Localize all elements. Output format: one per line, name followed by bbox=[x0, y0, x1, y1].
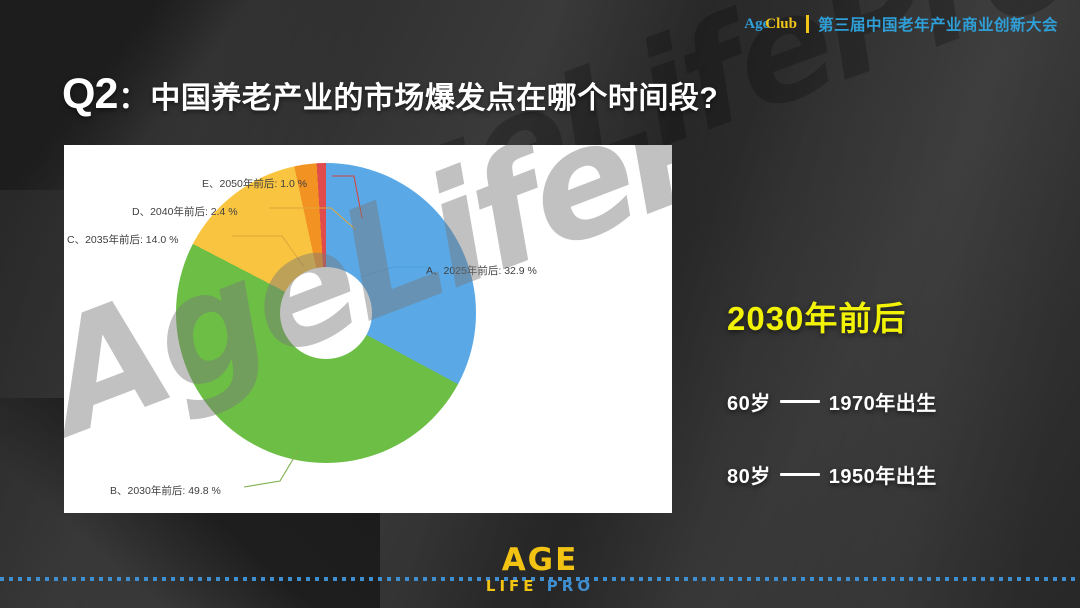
footer-logo: AGE LIFE PRO bbox=[0, 545, 1080, 594]
slice-label-e: E、2050年前后: 1.0 % bbox=[202, 176, 307, 191]
fact-birth-1950: 1950年出生 bbox=[829, 460, 937, 489]
dash-icon bbox=[780, 473, 820, 476]
footer-logo-life: LIFE bbox=[486, 577, 538, 595]
fact-age-80: 80岁 bbox=[727, 460, 771, 489]
fact-row-80: 80岁 1950年出生 bbox=[727, 460, 1057, 489]
chart-panel: E、2050年前后: 1.0 % D、2040年前后: 2.4 % C、2035… bbox=[64, 145, 672, 513]
leader-line-b bbox=[244, 451, 304, 493]
brand-logo: AgeClub bbox=[744, 15, 797, 33]
slice-label-c: C、2035年前后: 14.0 % bbox=[67, 232, 178, 247]
slice-label-d: D、2040年前后: 2.4 % bbox=[132, 204, 238, 219]
leader-line-c bbox=[232, 227, 318, 273]
donut-center-hole bbox=[280, 267, 372, 359]
footer-logo-pro: PRO bbox=[547, 577, 594, 595]
right-text-block: 2030年前后 60岁 1970年出生 80岁 1950年出生 bbox=[727, 292, 1057, 489]
fact-age-60: 60岁 bbox=[727, 387, 771, 416]
leader-line-a bbox=[360, 255, 430, 281]
conference-title: 第三届中国老年产业商业创新大会 bbox=[818, 13, 1058, 35]
highlight-answer: 2030年前后 bbox=[727, 292, 1057, 340]
question-number: Q2 bbox=[62, 70, 117, 119]
brand-divider bbox=[806, 15, 809, 33]
dash-icon bbox=[780, 400, 820, 403]
slice-label-a: A、2025年前后: 32.9 % bbox=[426, 263, 537, 278]
question-text: 中国养老产业的市场爆发点在哪个时间段? bbox=[150, 73, 718, 117]
slice-label-b: B、2030年前后: 49.8 % bbox=[110, 483, 221, 498]
page-title: Q2 ： 中国养老产业的市场爆发点在哪个时间段? bbox=[62, 70, 718, 119]
footer-logo-age: AGE bbox=[502, 545, 579, 576]
footer-logo-tagline: LIFE PRO bbox=[486, 579, 594, 594]
fact-birth-1970: 1970年出生 bbox=[829, 387, 937, 416]
header-brand-bar: AgeClub 第三届中国老年产业商业创新大会 bbox=[744, 13, 1058, 35]
fact-row-60: 60岁 1970年出生 bbox=[727, 387, 1057, 416]
title-colon: ： bbox=[118, 73, 148, 117]
brand-club-text: Club bbox=[765, 16, 797, 32]
